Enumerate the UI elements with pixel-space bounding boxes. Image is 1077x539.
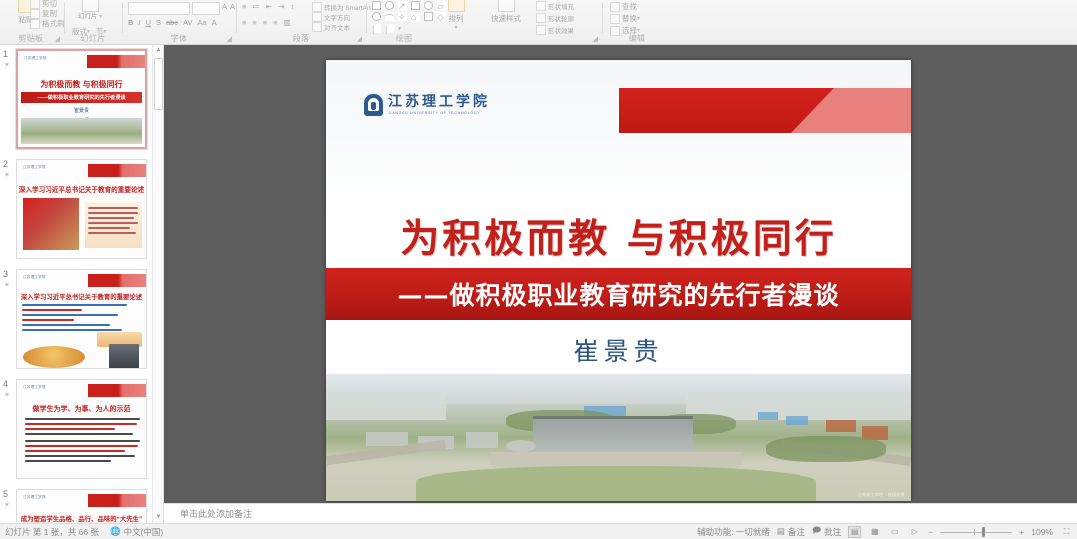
mini-title: 为积极而教 与积极同行 (18, 79, 145, 90)
thumbnail-slide-1[interactable]: 1 ✶ 江苏理工学院 为积极而教 与积极同行 ——做积极职业教育研究的先行者漫谈… (0, 47, 164, 157)
format-painter-button[interactable]: 格式刷 (30, 18, 65, 29)
mini-text-line (88, 222, 138, 224)
replace-label: 替换 (622, 13, 637, 24)
arrange-chevron-down-icon[interactable]: ▾ (454, 24, 457, 31)
notes-icon: ▤ (777, 526, 785, 537)
photo-blue-roof-2 (758, 412, 778, 420)
campus-aerial-photo: 江苏理工学院 · 校园全景 (326, 374, 911, 501)
decrease-indent-icon[interactable]: ⇤ (266, 3, 272, 11)
mini-logo: 江苏理工学院 (23, 495, 46, 500)
change-case-button[interactable]: Aa (198, 19, 207, 27)
mini-red-banner (87, 55, 145, 68)
align-buttons[interactable]: ≡ ≡ ≡ ≡ ▥ (242, 19, 291, 27)
photo-building-1 (366, 432, 408, 446)
animation-star-icon: ✶ (4, 61, 10, 69)
mini-decoration-circle (23, 346, 85, 368)
columns-icon[interactable]: ▥ (284, 19, 291, 27)
mini-text-line (22, 304, 127, 306)
shape-fill-icon (536, 1, 546, 11)
quick-styles-label: 快速样式 (491, 13, 521, 24)
bold-button[interactable]: B (128, 19, 133, 27)
slide-editing-stage: 江苏理工学院 JIANGSU UNIVERSITY OF TECHNOLOGY … (164, 45, 1077, 503)
new-slide-button[interactable]: 幻灯片 ▾ (70, 0, 110, 21)
mini-text-line (22, 319, 74, 321)
find-button[interactable]: 查找 (610, 1, 637, 12)
bullet-list-icon[interactable]: ≡ (242, 3, 246, 11)
quick-styles-button[interactable]: 快速样式 (480, 0, 532, 24)
photo-credit: 江苏理工学院 · 校园全景 (858, 492, 905, 498)
font-family-select[interactable] (128, 2, 190, 15)
comments-toggle-label: 批注 (824, 526, 841, 538)
align-center-icon[interactable]: ≡ (252, 19, 256, 27)
ribbon: 粘贴 剪切 复制 格式刷 剪贴板 ◢ 幻灯片 ▾ 版式▾ 节▾ 幻灯片 (0, 0, 1077, 45)
notes-toggle-label: 备注 (788, 526, 805, 538)
mini-campus-photo (21, 118, 142, 144)
thumbnail-pane-scrollbar[interactable]: ▲ ▼ (152, 45, 163, 523)
mini-text-line (22, 309, 82, 311)
mini-text-line (22, 329, 122, 331)
mini-text-line (22, 314, 118, 316)
increase-indent-icon[interactable]: ⇥ (278, 3, 284, 11)
mini-logo: 江苏理工学院 (24, 56, 47, 61)
star-shape-icon[interactable]: ✧ (398, 12, 407, 21)
photo-red-roof-1 (826, 420, 856, 432)
status-right: 辅助功能: 一切就绪 ▤ 备注 🗩 批注 ▤ ▦ ▭ ▷ − + 109% ⛶ (697, 525, 1073, 539)
strikethrough-button[interactable]: abc (166, 19, 178, 27)
thumbnail-number: 3 (3, 269, 8, 279)
university-logo: 江苏理工学院 JIANGSU UNIVERSITY OF TECHNOLOGY (364, 94, 490, 116)
line-spacing-icon[interactable]: ↕ (290, 3, 294, 11)
vertical-line-icon[interactable]: | (372, 24, 381, 33)
thumbnail-slide-4[interactable]: 4 ✶ 江苏理工学院 做学生为学、为事、为人的示范 (0, 377, 164, 487)
mini-title: 做学生为学、为事、为人的示范 (17, 404, 146, 414)
thumbnail-number: 5 (3, 489, 8, 499)
text-direction-label: 文字方向 (324, 12, 350, 22)
mini-text-line (88, 212, 138, 214)
photo-main-building (533, 416, 693, 452)
ribbon-group-drawing: ↗ ▱ ⌒ ✧ ⌂ ◇ | | ▾ 排列 ▾ 快速样式 形 (368, 0, 600, 45)
ribbon-group-font: A A B I U S abc AV Aa A 字体 ◢ (124, 0, 234, 45)
italic-button[interactable]: I (138, 19, 140, 27)
logo-chinese-name: 江苏理工学院 (388, 95, 490, 110)
font-size-steppers[interactable]: A A (222, 3, 235, 11)
arrange-icon (448, 0, 465, 12)
shape-gallery-row-3[interactable]: | | ▾ (372, 24, 401, 33)
mini-logo: 江苏理工学院 (23, 385, 46, 390)
shape-effects-button[interactable]: 形状效果 (536, 25, 574, 35)
decrease-font-icon[interactable]: A (230, 3, 235, 11)
arrange-label: 排列 (449, 13, 464, 24)
mini-red-banner (88, 164, 146, 177)
zoom-out-button[interactable]: − (928, 527, 933, 537)
mini-red-banner (88, 384, 146, 397)
align-text-label: 对齐文本 (324, 22, 350, 32)
ribbon-group-slides: 幻灯片 ▾ 版式▾ 节▾ 幻灯片 (66, 0, 120, 45)
search-icon (610, 2, 620, 12)
font-size-select[interactable] (192, 2, 220, 15)
scrollbar-thumb[interactable] (154, 58, 163, 110)
ribbon-divider-3 (236, 3, 237, 33)
slide-subtitle-bar[interactable]: ——做积极职业教育研究的先行者漫谈 (326, 268, 911, 320)
font-color-button[interactable]: A (212, 19, 217, 27)
increase-font-icon[interactable]: A (222, 3, 227, 11)
mini-subtitle-bar: ——做积极职业教育研究的先行者漫谈 (21, 92, 142, 103)
shape-gallery-row-2[interactable]: ⌒ ✧ ⌂ ◇ (372, 12, 446, 21)
circle-shape-icon[interactable] (372, 12, 381, 21)
shape-outline-button[interactable]: 形状轮廓 (536, 13, 574, 23)
animation-star-icon: ✶ (4, 501, 10, 509)
shape-fill-label: 形状填充 (548, 1, 574, 11)
text-shadow-button[interactable]: S (156, 19, 161, 27)
group-label-editing: 编辑 (604, 33, 670, 44)
view-slide-sorter-button[interactable]: ▦ (868, 526, 881, 538)
clipboard-dialog-launcher[interactable]: ◢ (55, 35, 60, 43)
banner-shape-icon[interactable]: ⌂ (411, 12, 420, 21)
animation-star-icon: ✶ (4, 171, 10, 179)
view-slideshow-button[interactable]: ▷ (908, 526, 921, 538)
university-emblem-icon (364, 94, 383, 116)
drawing-dialog-launcher[interactable]: ◢ (593, 35, 598, 43)
thumbnail-image[interactable]: 江苏理工学院 深入学习习近平总书记关于教育的重要论述 (16, 269, 147, 369)
smartart-icon (312, 2, 322, 12)
notes-pane[interactable]: 单击此处添加备注 (164, 503, 1077, 523)
oval-shape-icon[interactable] (385, 1, 394, 10)
donut-shape-icon[interactable] (424, 1, 433, 10)
underline-button[interactable]: U (146, 19, 151, 27)
ribbon-divider-4 (366, 3, 367, 33)
zoom-slider[interactable] (940, 526, 1012, 538)
thumbnail-number: 2 (3, 159, 8, 169)
format-painter-label: 格式刷 (42, 18, 65, 29)
photo-treeline-3 (766, 436, 886, 462)
mini-text-block (85, 202, 142, 248)
photo-blue-roof-3 (786, 416, 808, 425)
mini-text-line (25, 460, 111, 462)
shape-effects-icon (536, 25, 546, 35)
fit-slide-to-window-button[interactable]: ⛶ (1060, 526, 1073, 538)
thumbnail-image[interactable]: 江苏理工学院 为积极而教 与积极同行 ——做积极职业教育研究的先行者漫谈 崔景贵… (16, 49, 147, 149)
mini-title: 深入学习习近平总书记关于教育的重要论述 (17, 292, 146, 301)
view-normal-button[interactable]: ▤ (848, 526, 861, 538)
mini-photo-portrait (23, 198, 79, 250)
connector-icon[interactable]: | (385, 24, 394, 33)
replace-icon (610, 14, 620, 24)
align-right-icon[interactable]: ≡ (263, 19, 267, 27)
mini-text-line (25, 423, 137, 425)
mini-portrait (109, 344, 139, 368)
photo-building-3 (466, 432, 498, 448)
list-buttons[interactable]: ≡ ≔ ⇤ ⇥ ↕ (242, 3, 294, 11)
photo-city-left (326, 392, 446, 420)
arrange-button[interactable]: 排列 ▾ (436, 0, 476, 31)
mini-logo: 江苏理工学院 (23, 275, 46, 280)
slide-author[interactable]: 崔景贵 (326, 332, 911, 368)
ribbon-group-editing: 查找 替换 ▾ 选择 ▾ 编辑 (604, 0, 670, 45)
zoom-slider-knob[interactable] (982, 527, 985, 537)
shape-outline-icon (536, 13, 546, 23)
shape-fill-button[interactable]: 形状填充 (536, 1, 574, 11)
ribbon-divider-1 (64, 3, 65, 33)
comments-toggle[interactable]: 🗩 批注 (812, 525, 841, 539)
slide-main-title[interactable]: 为积极而教 与积极同行 (326, 208, 911, 264)
mini-title: 深入学习习近平总书记关于教育的重要论述 (17, 184, 146, 194)
ribbon-divider-2 (122, 3, 123, 33)
logo-english-name: JIANGSU UNIVERSITY OF TECHNOLOGY (388, 111, 490, 115)
accessibility-status[interactable]: 辅助功能: 一切就绪 (697, 526, 770, 538)
animation-star-icon: ✶ (4, 281, 10, 289)
zoom-slider-track (940, 532, 1012, 533)
text-direction-button[interactable]: 文字方向 (312, 12, 350, 22)
zoom-level-label[interactable]: 109% (1031, 527, 1053, 537)
smartart-button[interactable]: 转换为 SmartArt (312, 2, 371, 12)
view-reading-button[interactable]: ▭ (888, 526, 901, 538)
mini-text-line (22, 324, 110, 326)
group-label-clipboard: 剪贴板 (0, 33, 62, 44)
paintbrush-icon (30, 19, 40, 29)
group-label-drawing: 绘图 (288, 33, 520, 44)
animation-star-icon: ✶ (4, 391, 10, 399)
current-slide[interactable]: 江苏理工学院 JIANGSU UNIVERSITY OF TECHNOLOGY … (326, 60, 911, 501)
group-label-slides: 幻灯片 (66, 33, 120, 44)
slide-red-banner (619, 88, 911, 133)
curve-shape-icon[interactable]: ⌒ (385, 12, 394, 21)
triangle-shape-icon[interactable] (424, 12, 433, 21)
copy-icon (30, 9, 40, 19)
rectangle-shape-icon[interactable] (372, 1, 381, 10)
shape-gallery-more-icon[interactable]: ▾ (398, 25, 401, 32)
mini-text-line (25, 418, 140, 420)
mini-author: 崔景贵 (18, 107, 145, 114)
mini-logo: 江苏理工学院 (23, 165, 46, 170)
mini-title: 成为塑造学生品格、品行、品味的“大先生” (17, 514, 146, 523)
arrow-shape-icon[interactable]: ↗ (398, 1, 407, 10)
thumbnail-number: 1 (3, 49, 8, 59)
justify-icon[interactable]: ≡ (273, 19, 277, 27)
mini-text-line (25, 450, 125, 452)
globe-icon: 🌐 (110, 526, 121, 537)
notes-placeholder: 单击此处添加备注 (180, 507, 252, 520)
line-shape-icon[interactable] (411, 1, 420, 10)
quick-styles-icon (498, 0, 515, 12)
mini-text-line (25, 433, 133, 435)
status-left: 幻灯片 第 1 张，共 66 张 🌐 中文(中国) (5, 526, 163, 538)
mini-red-banner (88, 274, 146, 287)
mini-text-line (88, 232, 136, 234)
align-text-button[interactable]: 对齐文本 (312, 22, 350, 32)
new-slide-icon (82, 0, 99, 12)
thumbnail-image[interactable]: 江苏理工学院 成为塑造学生品格、品行、品味的“大先生” (16, 489, 147, 523)
align-text-icon (312, 22, 322, 32)
mini-text-line (25, 428, 115, 430)
font-format-buttons[interactable]: B I U S abc AV Aa A (128, 19, 217, 27)
thumbnail-slide-2[interactable]: 2 ✶ 江苏理工学院 深入学习习近平总书记关于教育的重要论述 (0, 157, 164, 267)
ribbon-divider-5 (602, 3, 603, 33)
mini-text-line (88, 207, 138, 209)
photo-lawn (416, 466, 816, 501)
slide-subtitle-text: ——做积极职业教育研究的先行者漫谈 (397, 276, 839, 312)
thumbnail-image[interactable]: 江苏理工学院 做学生为学、为事、为人的示范 (16, 379, 147, 479)
thumbnail-number: 4 (3, 379, 8, 389)
mini-text-line (25, 445, 138, 447)
group-label-font: 字体 (124, 33, 234, 44)
replace-button[interactable]: 替换 ▾ (610, 13, 640, 24)
language-label: 中文(中国) (124, 526, 164, 538)
mini-red-banner (88, 494, 146, 507)
shape-outline-label: 形状轮廓 (548, 13, 574, 23)
character-spacing-button[interactable]: AV (183, 19, 192, 27)
scroll-up-icon[interactable]: ▲ (153, 45, 164, 56)
zoom-in-button[interactable]: + (1019, 527, 1024, 537)
thumbnail-image[interactable]: 江苏理工学院 深入学习习近平总书记关于教育的重要论述 (16, 159, 147, 259)
font-dialog-launcher[interactable]: ◢ (227, 35, 232, 43)
thumbnail-slide-5[interactable]: 5 ✶ 江苏理工学院 成为塑造学生品格、品行、品味的“大先生” (0, 487, 164, 523)
status-bar: 幻灯片 第 1 张，共 66 张 🌐 中文(中国) 辅助功能: 一切就绪 ▤ 备… (0, 523, 1077, 539)
mini-text-line (88, 227, 130, 229)
find-label: 查找 (622, 1, 637, 12)
slide-thumbnail-pane[interactable]: 1 ✶ 江苏理工学院 为积极而教 与积极同行 ——做积极职业教育研究的先行者漫谈… (0, 45, 164, 523)
language-indicator[interactable]: 🌐 中文(中国) (110, 526, 163, 538)
smartart-label: 转换为 SmartArt (324, 2, 371, 12)
text-direction-icon (312, 12, 322, 22)
thumbnail-slide-3[interactable]: 3 ✶ 江苏理工学院 深入学习习近平总书记关于教育的重要论述 (0, 267, 164, 377)
mini-text-line (25, 440, 140, 442)
mini-text-line (25, 455, 135, 457)
notes-toggle[interactable]: ▤ 备注 (777, 526, 805, 538)
slide-counter[interactable]: 幻灯片 第 1 张，共 66 张 (5, 526, 99, 538)
photo-building-4 (506, 440, 536, 452)
numbered-list-icon[interactable]: ≔ (252, 3, 260, 11)
ribbon-group-clipboard: 粘贴 剪切 复制 格式刷 剪贴板 ◢ (0, 0, 62, 45)
zoom-slider-midpoint (974, 529, 975, 535)
align-left-icon[interactable]: ≡ (242, 19, 246, 27)
comment-icon: 🗩 (812, 525, 821, 539)
shape-gallery-row-1[interactable]: ↗ ▱ (372, 1, 446, 10)
scroll-down-icon[interactable]: ▼ (153, 512, 164, 523)
mini-text-line (88, 217, 134, 219)
shape-effects-label: 形状效果 (548, 25, 574, 35)
